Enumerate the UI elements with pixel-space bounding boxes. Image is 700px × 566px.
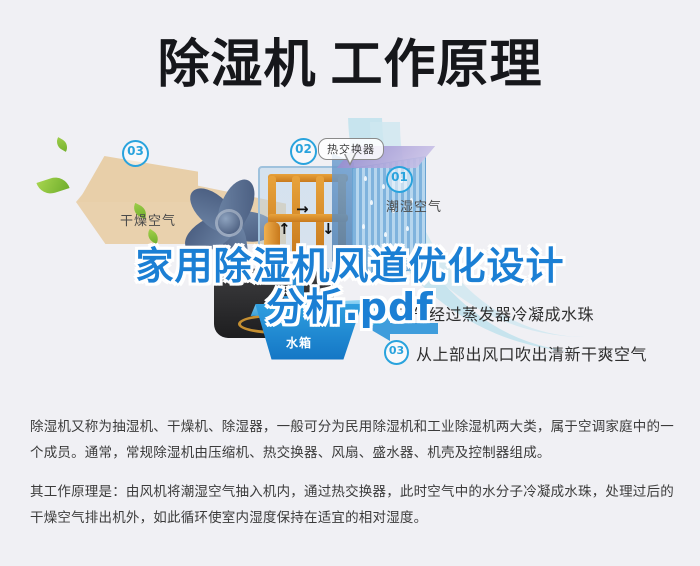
step-badge-03: 03	[384, 340, 409, 365]
label-dry-air: 干燥空气	[120, 210, 176, 229]
illustration-diagram: → ↑ ↓ 水箱 03 0	[0, 118, 700, 400]
step-item-03: 03 从上部出风口吹出清新干爽空气	[384, 340, 647, 365]
page-title: 除湿机 工作原理	[0, 34, 700, 96]
badge-03-dry-air: 03	[122, 140, 149, 167]
flow-arrow-up-icon: ↑	[278, 222, 291, 237]
body-text-block: 除湿机又称为抽湿机、干燥机、除湿器，一般可分为民用除湿机和工业除湿机两大类，属于…	[30, 414, 676, 543]
title-part-dehumidifier: 除湿机	[157, 39, 316, 91]
page-root: 除湿机 工作原理 → ↑ ↓	[0, 0, 700, 566]
leaf-icon	[36, 174, 69, 198]
heat-exchanger-side	[332, 154, 354, 271]
step-badge-02: 02	[364, 300, 389, 325]
step-item-02: 02 空气经过蒸发器冷凝成水珠	[364, 300, 594, 325]
step-text-03: 从上部出风口吹出清新干爽空气	[416, 341, 647, 365]
badge-01-humid-air: 01	[386, 166, 413, 193]
leaf-icon	[54, 137, 71, 152]
step-text-02: 空气经过蒸发器冷凝成水珠	[396, 301, 594, 325]
flow-arrow-right-icon: →	[296, 202, 309, 217]
label-humid-air: 潮湿空气	[386, 196, 442, 215]
badge-02-heat-exchanger: 02	[290, 138, 317, 165]
body-paragraph-2: 其工作原理是：由风机将潮湿空气抽入机内，通过热交换器，此时空气中的水分子冷凝成水…	[30, 479, 676, 532]
body-paragraph-1: 除湿机又称为抽湿机、干燥机、除湿器，一般可分为民用除湿机和工业除湿机两大类，属于…	[30, 414, 676, 467]
water-tank-label: 水箱	[286, 334, 312, 351]
title-part-working-principle: 工作原理	[331, 39, 543, 91]
callout-tail-inner	[345, 153, 355, 163]
